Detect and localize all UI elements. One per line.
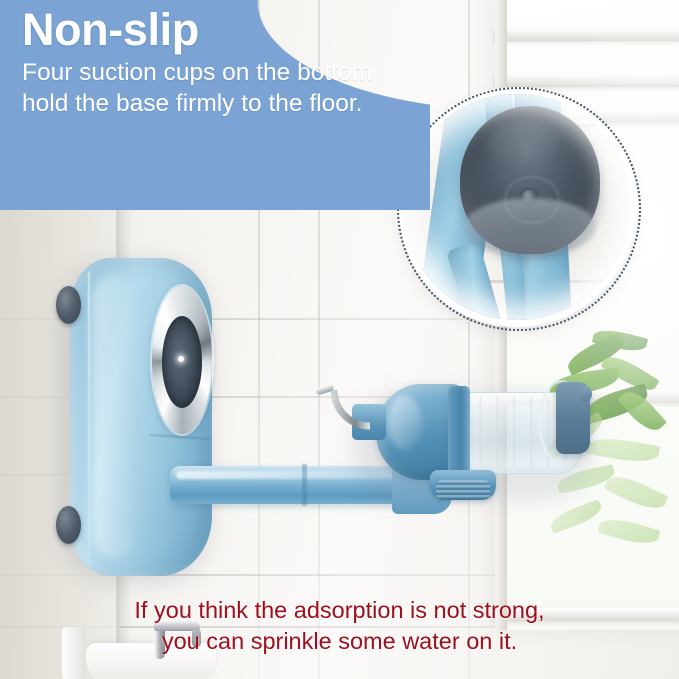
window-foliage bbox=[539, 330, 679, 610]
headline-title: Non-slip bbox=[22, 6, 430, 53]
caption-line-1: If you think the adsorption is not stron… bbox=[0, 595, 679, 626]
headline-subtitle: Four suction cups on the bottom hold the… bbox=[22, 57, 374, 119]
caption-line-2: you can sprinkle some water on it. bbox=[0, 626, 679, 657]
headline-banner-text: Non-slip Four suction cups on the bottom… bbox=[0, 0, 430, 119]
inset-cup-shine bbox=[486, 122, 558, 166]
inset-cup-rim bbox=[464, 198, 596, 256]
bottom-caption: If you think the adsorption is not stron… bbox=[0, 595, 679, 657]
suction-cup-closeup-inset bbox=[404, 94, 630, 320]
window-frame-bar bbox=[495, 28, 679, 41]
product-poster: Non-slip Four suction cups on the bottom… bbox=[0, 0, 679, 679]
window-frame-bar bbox=[495, 74, 679, 87]
